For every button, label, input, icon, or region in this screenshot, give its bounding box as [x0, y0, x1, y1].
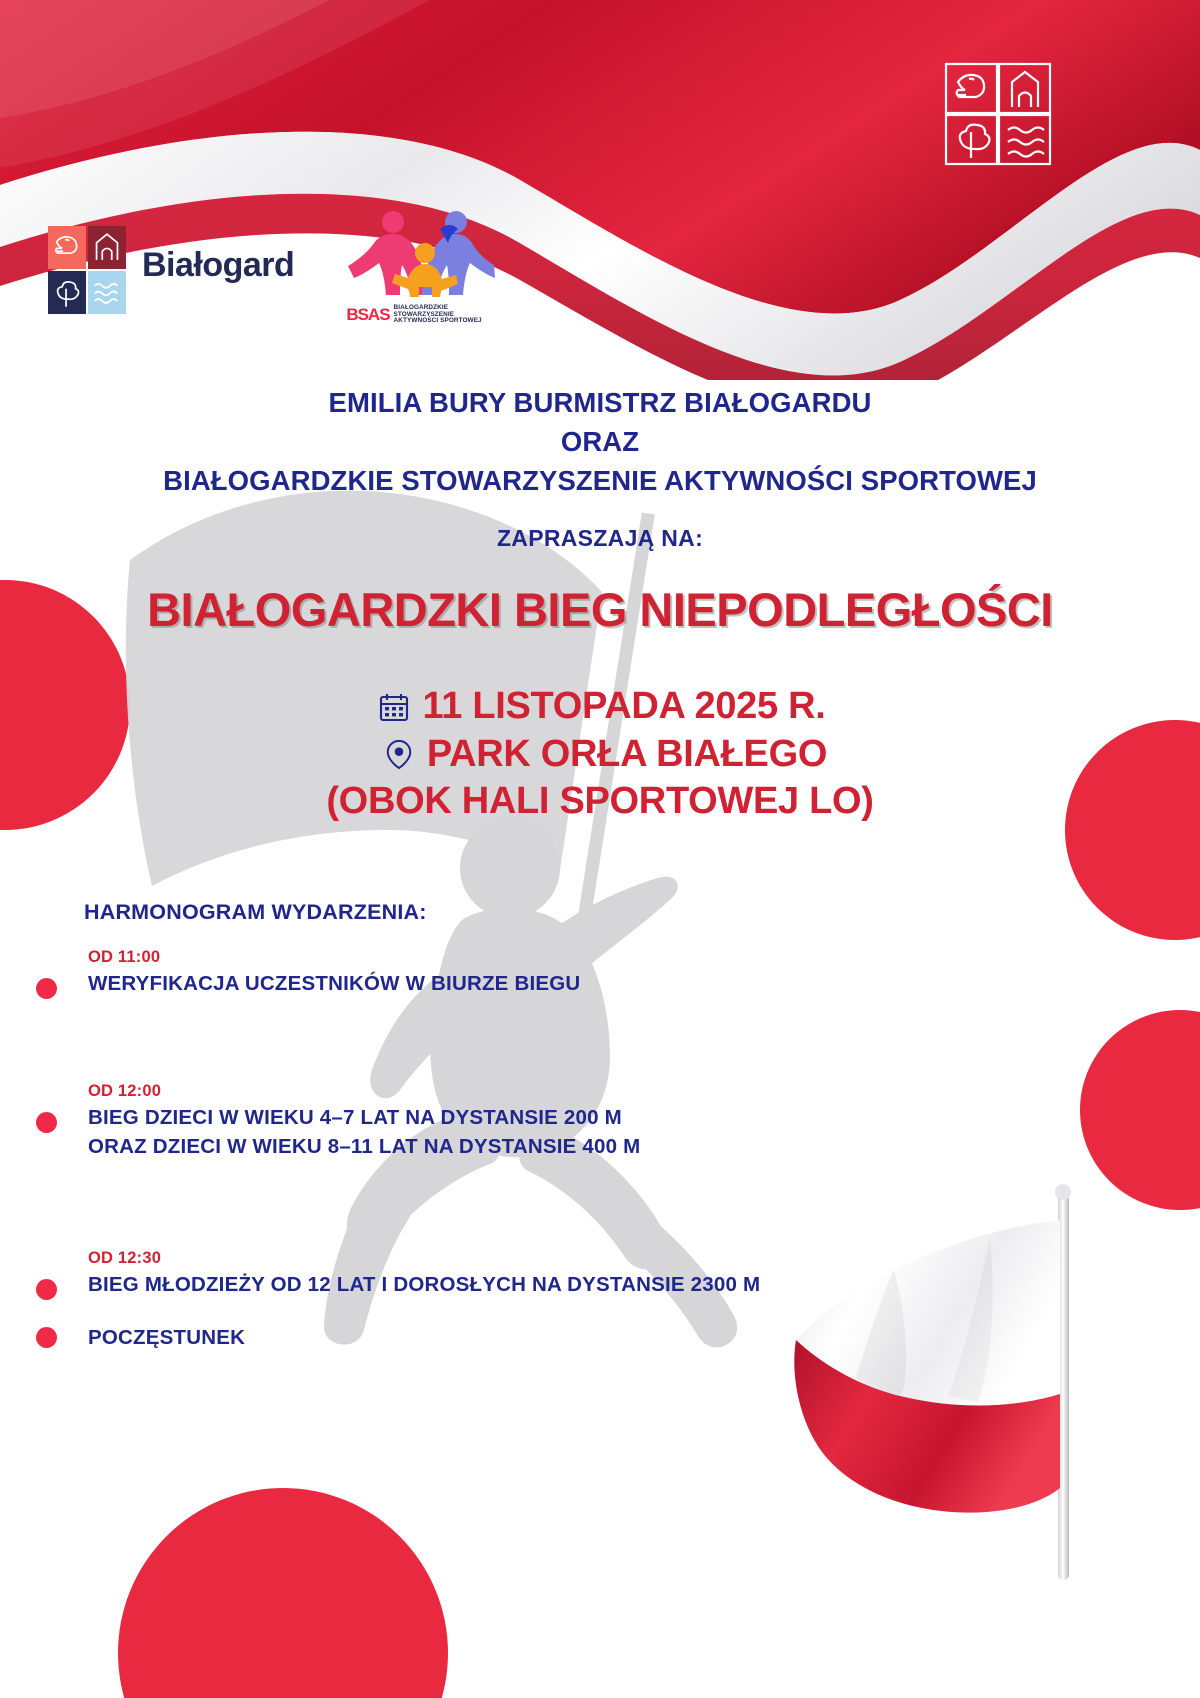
bsas-name-line-3: AKTYWNOŚCI SPORTOWEJ	[394, 318, 482, 325]
schedule-list: OD 11:00 WERYFIKACJA UCZESTNIKÓW W BIURZ…	[36, 948, 996, 1369]
schedule-item-body: POCZĘSTUNEK	[36, 1323, 996, 1352]
schedule-item: OD 11:00 WERYFIKACJA UCZESTNIKÓW W BIURZ…	[36, 948, 996, 998]
event-date-text: 11 LISTOPADA 2025 R.	[422, 683, 825, 731]
logo-row: Białogard BSAS BIAŁOGARDZKIE STO	[48, 205, 496, 325]
bialogard-city-logo: Białogard	[48, 226, 294, 304]
poster-root: Białogard BSAS BIAŁOGARDZKIE STO	[0, 0, 1200, 1698]
bialogard-wordmark: Białogard	[142, 246, 294, 285]
schedule-item-time: OD 12:00	[88, 1082, 996, 1101]
schedule-item-time: OD 12:30	[88, 1249, 996, 1268]
gate-icon	[88, 226, 126, 269]
schedule-item: POCZĘSTUNEK	[36, 1323, 996, 1369]
bullet-icon	[36, 978, 57, 999]
bsas-association-logo: BSAS BIAŁOGARDZKIE STOWARZYSZENIE AKTYWN…	[346, 205, 496, 325]
bsas-mark: BSAS	[346, 305, 389, 325]
tree-icon	[48, 271, 86, 314]
schedule-item-body: OD 12:00 BIEG DZIECI W WIEKU 4–7 LAT NA …	[36, 1082, 996, 1161]
organizer-line-2: ORAZ	[0, 422, 1200, 461]
bsas-full-name: BIAŁOGARDZKIE STOWARZYSZENIE AKTYWNOŚCI …	[394, 305, 482, 325]
map-pin-icon	[379, 732, 419, 776]
event-date-row: 11 LISTOPADA 2025 R.	[0, 683, 1200, 731]
event-title: BIAŁOGARDZKI BIEG NIEPODLEGŁOŚCI	[0, 582, 1200, 637]
invitation-text: ZAPRASZAJĄ NA:	[0, 525, 1200, 552]
event-place-text: PARK ORŁA BIAŁEGO	[427, 731, 827, 779]
event-place-text-2: (OBOK HALI SPORTOWEJ LO)	[326, 778, 873, 826]
schedule-item-text: WERYFIKACJA UCZESTNIKÓW W BIURZE BIEGU	[88, 969, 996, 998]
bullet-icon	[36, 1112, 57, 1133]
decor-circle-bottom	[118, 1488, 448, 1698]
when-where-block: 11 LISTOPADA 2025 R. PARK ORŁA BIAŁEGO (…	[0, 683, 1200, 826]
event-place-row: PARK ORŁA BIAŁEGO	[0, 731, 1200, 779]
water-waves-icon	[88, 271, 126, 314]
schedule-item-text: POCZĘSTUNEK	[88, 1323, 996, 1352]
schedule-item-text-2: ORAZ DZIECI W WIEKU 8–11 LAT NA DYSTANSI…	[88, 1132, 996, 1161]
bsas-caption: BSAS BIAŁOGARDZKIE STOWARZYSZENIE AKTYWN…	[346, 305, 481, 325]
schedule-heading: HARMONOGRAM WYDARZENIA:	[84, 900, 427, 925]
eagle-head-icon	[48, 226, 86, 269]
organizer-line-3: BIAŁOGARDZKIE STOWARZYSZENIE AKTYWNOŚCI …	[0, 461, 1200, 500]
calendar-icon	[374, 685, 414, 729]
bsas-figures-icon	[346, 205, 496, 301]
schedule-item-body: OD 12:30 BIEG MŁODZIEŻY OD 12 LAT I DORO…	[36, 1249, 996, 1299]
schedule-item: OD 12:30 BIEG MŁODZIEŻY OD 12 LAT I DORO…	[36, 1249, 996, 1299]
schedule-item-text: BIEG MŁODZIEŻY OD 12 LAT I DOROSŁYCH NA …	[88, 1270, 996, 1299]
organizers-block: EMILIA BURY BURMISTRZ BIAŁOGARDU ORAZ BI…	[0, 383, 1200, 500]
city-emblem-icon	[940, 60, 1060, 170]
schedule-item-time: OD 11:00	[88, 948, 996, 967]
schedule-item: OD 12:00 BIEG DZIECI W WIEKU 4–7 LAT NA …	[36, 1082, 996, 1161]
schedule-item-body: OD 11:00 WERYFIKACJA UCZESTNIKÓW W BIURZ…	[36, 948, 996, 998]
event-place-row-2: (OBOK HALI SPORTOWEJ LO)	[0, 778, 1200, 826]
bialogard-emblem-icon	[48, 226, 126, 304]
schedule-item-text: BIEG DZIECI W WIEKU 4–7 LAT NA DYSTANSIE…	[88, 1103, 996, 1132]
organizer-line-1: EMILIA BURY BURMISTRZ BIAŁOGARDU	[0, 383, 1200, 422]
